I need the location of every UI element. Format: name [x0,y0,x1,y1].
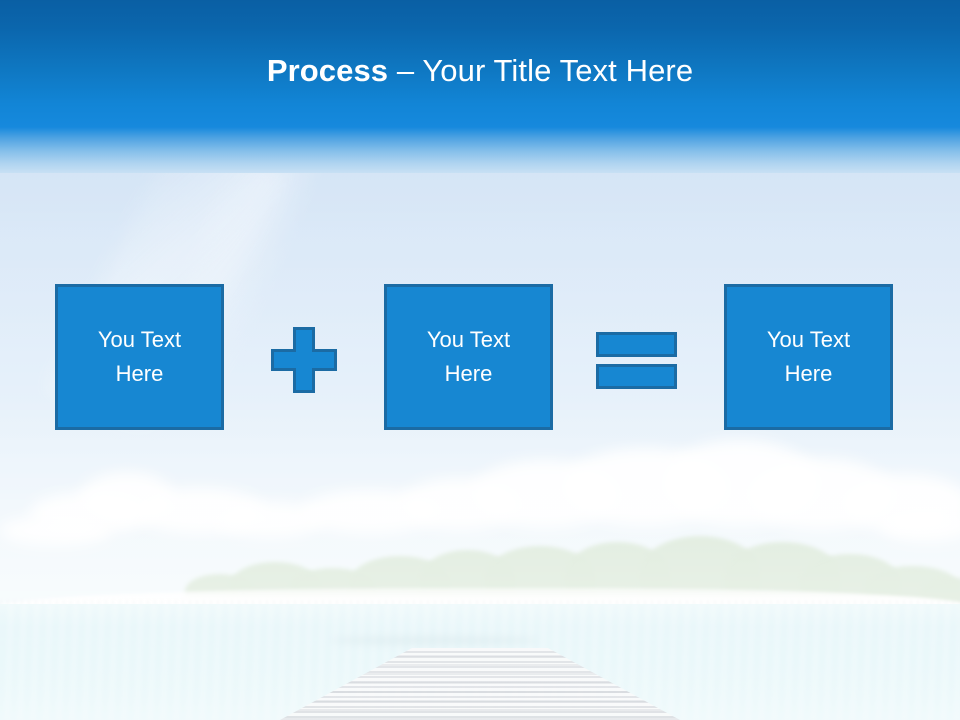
water-shadow [330,636,540,645]
equals-icon [596,332,677,389]
page-title-rest: – Your Title Text Here [388,53,693,88]
equals-bar-bottom [596,364,677,389]
process-box-1-label: You Text Here [98,323,181,391]
plus-icon [271,327,337,393]
equals-bar-top [596,332,677,357]
presentation-slide: Process – Your Title Text Here You Text … [0,0,960,720]
process-box-1[interactable]: You Text Here [55,284,224,430]
process-box-2[interactable]: You Text Here [384,284,553,430]
process-box-3[interactable]: You Text Here [724,284,893,430]
process-box-3-label: You Text Here [767,323,850,391]
process-box-2-label: You Text Here [427,323,510,391]
process-diagram: You Text Here You Text Here You Text Her… [0,284,960,434]
page-title-strong: Process [267,53,388,88]
title-banner-fade [0,127,960,173]
page-title: Process – Your Title Text Here [0,52,960,90]
